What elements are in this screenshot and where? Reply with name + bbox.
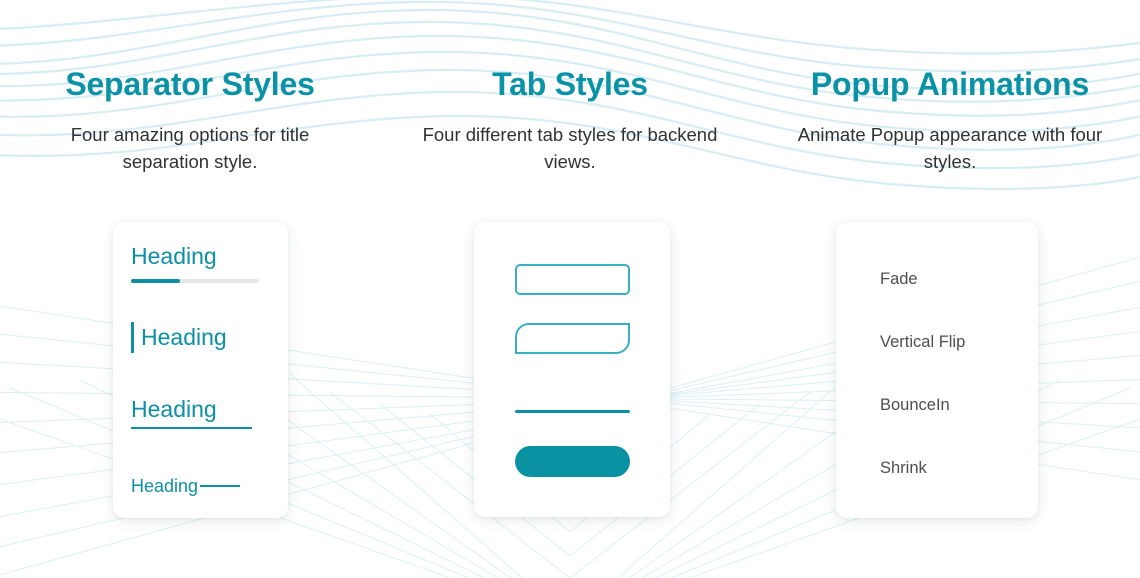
tab-option-filled-pill[interactable] bbox=[515, 446, 630, 477]
promo-feature-banner: Separator Styles Four amazing options fo… bbox=[0, 0, 1140, 578]
separator-option-full-underline[interactable]: Heading bbox=[131, 398, 252, 429]
separator-option-left-bar[interactable]: Heading bbox=[131, 322, 227, 353]
trailing-line-rule bbox=[200, 485, 240, 487]
separator-styles-preview-card: Heading Heading Heading Heading bbox=[113, 222, 288, 518]
column-subtitle-separator-styles: Four amazing options for title separatio… bbox=[25, 122, 355, 176]
popup-animation-option-vertical-flip[interactable]: Vertical Flip bbox=[880, 334, 965, 351]
separator-option-label: Heading bbox=[131, 477, 198, 495]
popup-animations-preview-card: Fade Vertical Flip BounceIn Shrink bbox=[836, 222, 1038, 518]
column-title-popup-animations: Popup Animations bbox=[811, 67, 1089, 102]
separator-option-trailing-line[interactable]: Heading bbox=[131, 477, 240, 495]
left-bar-rule bbox=[131, 322, 134, 353]
column-subtitle-popup-animations: Animate Popup appearance with four style… bbox=[785, 122, 1115, 176]
popup-animation-option-shrink[interactable]: Shrink bbox=[880, 460, 927, 477]
separator-option-label: Heading bbox=[131, 245, 217, 268]
column-subtitle-tab-styles: Four different tab styles for backend vi… bbox=[405, 122, 735, 176]
tab-option-underline-bar[interactable] bbox=[515, 410, 630, 413]
popup-animation-list: Fade Vertical Flip BounceIn Shrink bbox=[836, 222, 1038, 518]
partial-underline-rule bbox=[131, 279, 259, 283]
separator-style-list: Heading Heading Heading Heading bbox=[113, 222, 288, 518]
tab-option-outlined-rounded-rect[interactable] bbox=[515, 264, 630, 295]
separator-option-label: Heading bbox=[141, 326, 227, 349]
column-title-separator-styles: Separator Styles bbox=[65, 67, 314, 102]
tab-option-outlined-diagonal-rounded[interactable] bbox=[515, 323, 630, 354]
full-underline-rule bbox=[131, 427, 252, 429]
tab-styles-preview-card bbox=[474, 222, 670, 517]
popup-animation-option-fade[interactable]: Fade bbox=[880, 271, 918, 288]
separator-option-label: Heading bbox=[131, 398, 217, 421]
popup-animation-option-bouncein[interactable]: BounceIn bbox=[880, 397, 950, 414]
separator-option-partial-underline[interactable]: Heading bbox=[131, 245, 259, 283]
column-title-tab-styles: Tab Styles bbox=[492, 67, 648, 102]
tab-style-list bbox=[474, 222, 670, 517]
